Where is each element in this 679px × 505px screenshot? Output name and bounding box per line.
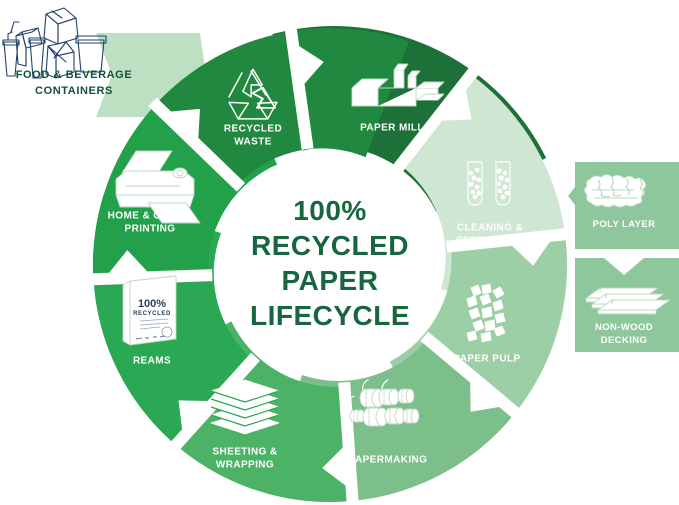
home-office-printing-label-line-2: PRINTING xyxy=(125,224,176,235)
center-line-2: RECYCLED xyxy=(251,230,409,261)
non-wood-decking-label-line-1: NON-WOOD xyxy=(595,322,653,333)
poly-flakes-icon xyxy=(585,175,646,208)
center-line-4: LIFECYCLE xyxy=(250,300,410,331)
papermaking-label: PAPERMAKING xyxy=(349,455,428,466)
paper-stack-icon xyxy=(211,380,279,434)
center-line-1: 100% xyxy=(293,195,367,226)
svg-text:100%: 100% xyxy=(138,298,166,310)
food-beverage-label-line-2: CONTAINERS xyxy=(35,85,113,97)
paper-mill-label: PAPER MILL xyxy=(360,123,424,134)
poly-layer-label: POLY LAYER xyxy=(593,219,656,230)
paper-pulp-label: PAPER PULP xyxy=(453,354,520,365)
lifecycle-diagram: 100% RECYCLED PAPER LIFECYCLE RECYCLED W… xyxy=(0,0,679,505)
center-line-3: PAPER xyxy=(282,265,379,296)
paper-ream-icon: 100% RECYCLED xyxy=(123,276,176,345)
sheeting-wrapping-label-line-2: WRAPPING xyxy=(216,460,274,471)
sheeting-wrapping-label-line-1: SHEETING & xyxy=(212,447,277,458)
reams-label: REAMS xyxy=(133,356,171,367)
food-beverage-label-line-1: FOOD & BEVERAGE xyxy=(16,69,133,81)
cleaning-separation-label-line-1: CLEANING & xyxy=(457,223,523,234)
recycled-waste-label-line-2: WASTE xyxy=(234,137,272,148)
non-wood-decking-label-line-2: DECKING xyxy=(601,335,648,346)
segment-content-sheeting-wrapping: SHEETING & WRAPPING xyxy=(211,380,279,471)
cleaning-separation-label-line-2: SEPARATION xyxy=(456,236,524,247)
infographic-canvas: 100% RECYCLED PAPER LIFECYCLE RECYCLED W… xyxy=(0,0,679,505)
svg-text:RECYCLED: RECYCLED xyxy=(133,311,171,317)
recycled-waste-label-line-1: RECYCLED xyxy=(224,124,282,135)
cups-and-takeout-boxes-icon xyxy=(3,8,106,78)
home-office-printing-label-line-1: HOME & OFFICE xyxy=(108,211,193,222)
